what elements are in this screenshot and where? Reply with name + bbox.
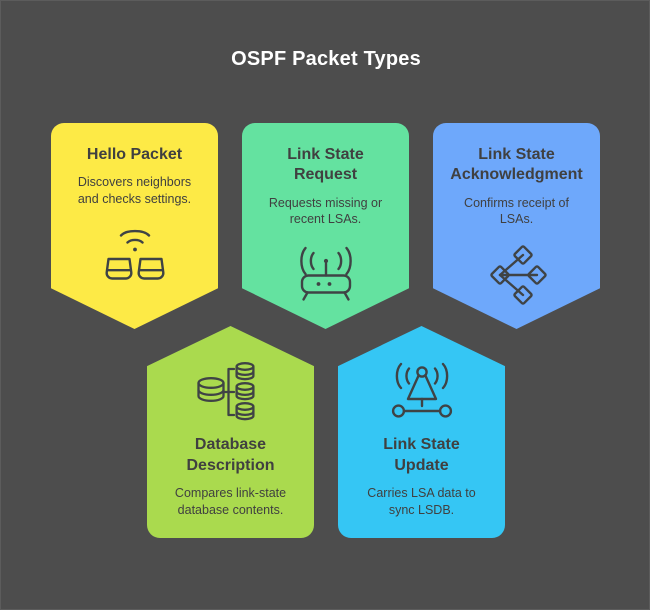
card-title: Link State Request [287, 145, 363, 186]
card-description: Confirms receipt of LSAs. [464, 195, 569, 228]
infographic-canvas: OSPF Packet Types Hello Packet Discovers… [0, 0, 650, 610]
two-devices-wifi-icon [98, 221, 172, 283]
card-title: Link State Update [383, 435, 459, 476]
card-hello-packet[interactable]: Hello Packet Discovers neighbors and che… [51, 123, 218, 329]
card-database-description[interactable]: Database Description Compares link-state… [147, 326, 314, 538]
card-title: Hello Packet [87, 145, 182, 165]
network-share-nodes-icon [480, 242, 554, 308]
card-description: Carries LSA data to sync LSDB. [367, 485, 475, 518]
page-title: OSPF Packet Types [1, 48, 650, 71]
card-title: Database Description [186, 435, 274, 476]
card-title: Link State Acknowledgment [450, 145, 582, 186]
card-link-state-acknowledgment[interactable]: Link State Acknowledgment Confirms recei… [433, 123, 600, 329]
card-description: Discovers neighbors and checks settings. [78, 174, 191, 207]
wireless-router-icon [289, 242, 363, 304]
card-description: Requests missing or recent LSAs. [269, 195, 382, 228]
broadcast-tower-icon [384, 360, 460, 422]
database-replication-icon [193, 356, 269, 422]
card-link-state-update[interactable]: Link State Update Carries LSA data to sy… [338, 326, 505, 538]
card-description: Compares link-state database contents. [175, 485, 286, 518]
card-link-state-request[interactable]: Link State Request Requests missing or r… [242, 123, 409, 329]
